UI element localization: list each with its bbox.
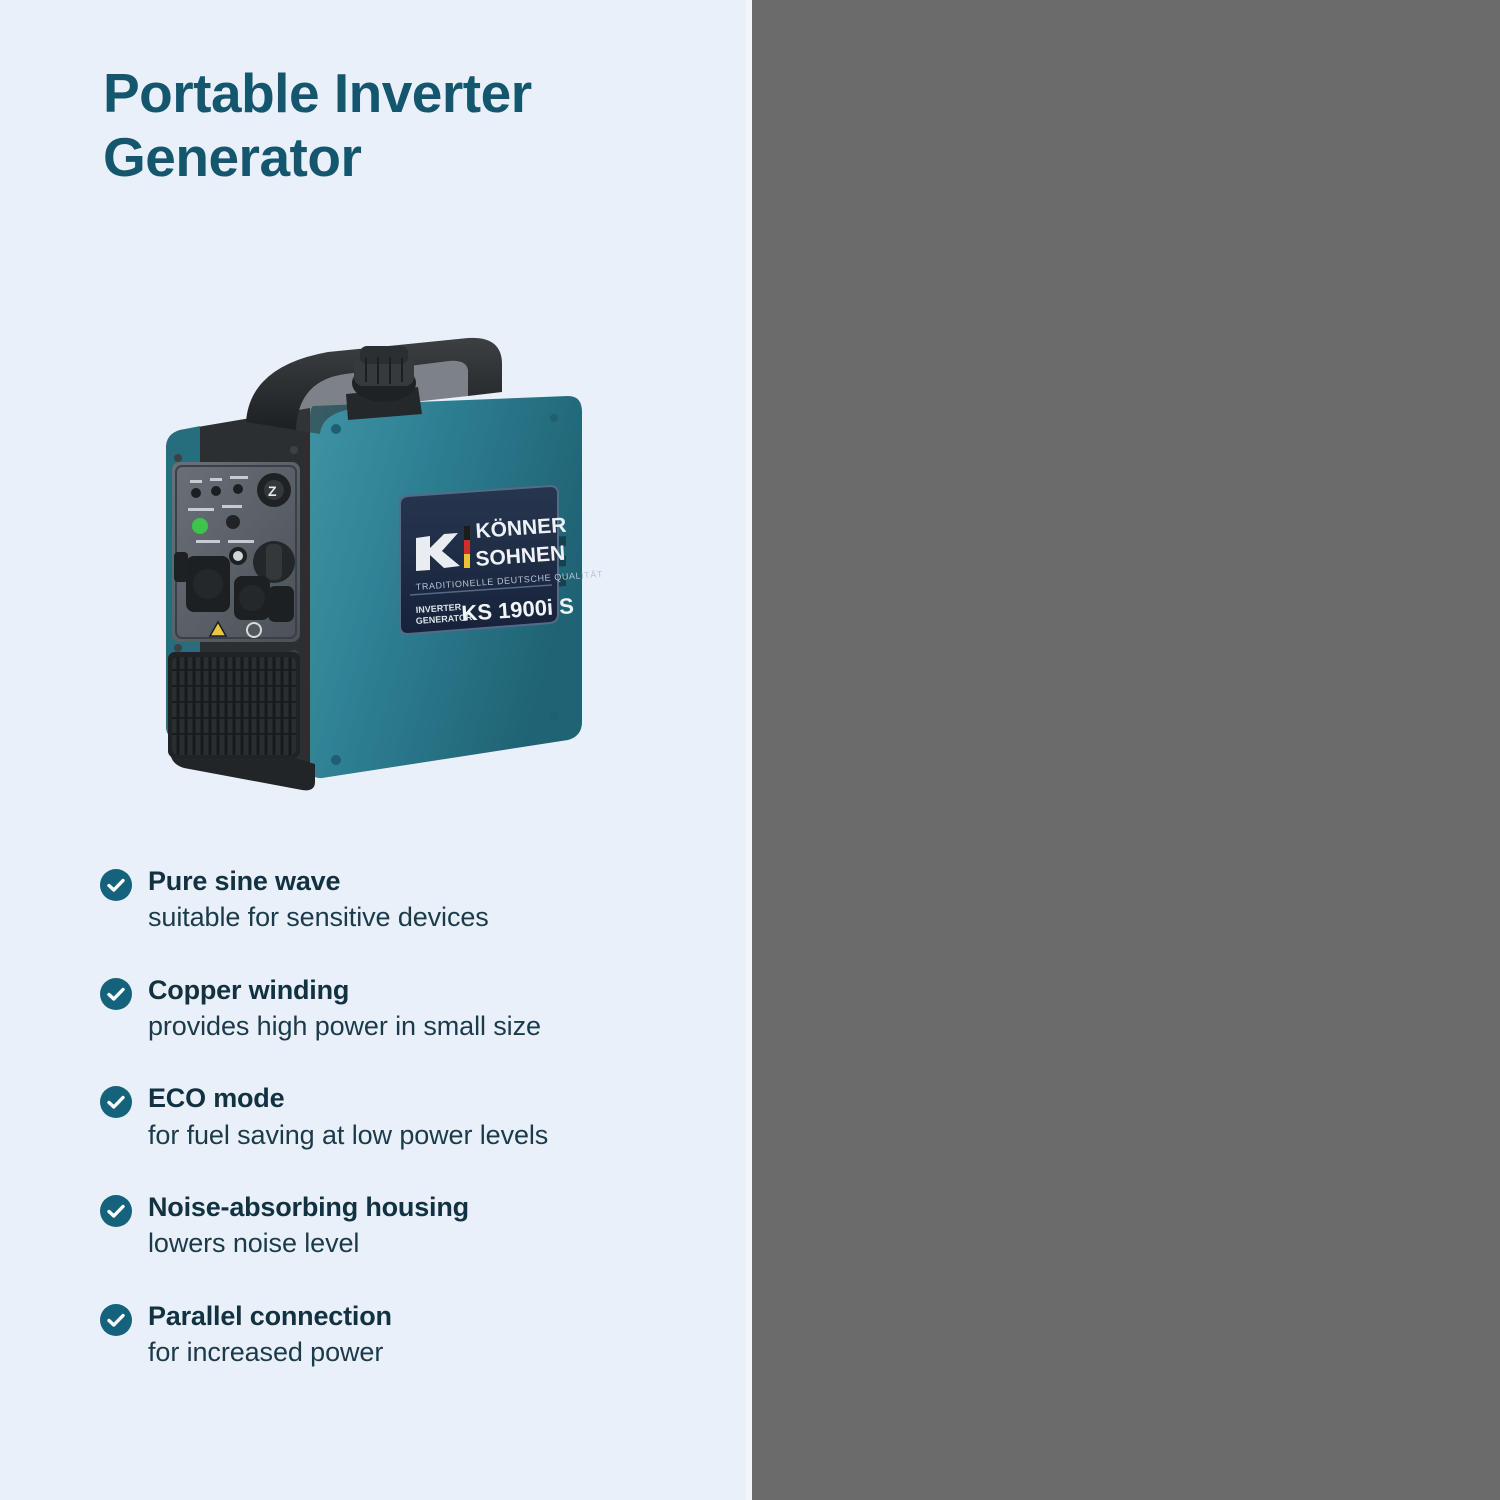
panel-label-5v xyxy=(190,480,202,483)
check-circle-icon xyxy=(100,1195,132,1227)
feature-item: Pure sine wave suitable for sensitive de… xyxy=(100,866,720,934)
panel-screw xyxy=(174,454,182,462)
check-circle-icon xyxy=(100,1304,132,1336)
indicator-lamp-low-oil xyxy=(233,484,243,494)
panel-label-dc-overload xyxy=(228,540,254,543)
body-screw xyxy=(550,712,558,720)
panel-screw xyxy=(290,446,298,454)
feature-item: ECO mode for fuel saving at low power le… xyxy=(100,1083,720,1151)
dc-overload-socket-inner xyxy=(233,551,243,561)
feature-subtitle: suitable for sensitive devices xyxy=(148,901,720,933)
flag-stripe-red xyxy=(464,540,470,554)
fuel-cap-top xyxy=(360,346,408,364)
indicator-lamp-overload xyxy=(211,486,221,496)
left-panel-title: Portable Inverter Generator xyxy=(103,62,703,190)
panel-label-low-oil xyxy=(230,476,248,479)
feature-title: ECO mode xyxy=(148,1083,720,1114)
economy-mode-led xyxy=(192,518,208,534)
flag-stripe-black xyxy=(464,526,470,540)
feature-title: Pure sine wave xyxy=(148,866,720,897)
choke-knob-lever xyxy=(266,544,282,580)
flag-stripe-gold xyxy=(464,554,470,568)
feature-subtitle: for fuel saving at low power levels xyxy=(148,1119,720,1151)
check-circle-icon xyxy=(100,1086,132,1118)
ac-socket-right-face xyxy=(239,585,265,611)
inverter-generator-product-image: Z xyxy=(150,330,610,810)
comparison-infographic: Portable Inverter Generator xyxy=(0,0,1500,1500)
feature-item: Parallel connection for increased power xyxy=(100,1301,720,1369)
ac-reset-button xyxy=(226,515,240,529)
feature-title: Copper winding xyxy=(148,975,720,1006)
panel-screw xyxy=(174,644,182,652)
ignition-switch-marking: Z xyxy=(268,483,277,499)
body-screw xyxy=(331,755,341,765)
panel-label-230v xyxy=(196,540,220,543)
indicator-lamp-output xyxy=(191,488,201,498)
left-panel-inverter-generator: Portable Inverter Generator xyxy=(0,0,746,1500)
panel-label-economy xyxy=(188,508,214,511)
socket-cover-flap xyxy=(268,586,294,622)
feature-subtitle: lowers noise level xyxy=(148,1227,720,1259)
ac-socket-left-face xyxy=(193,569,223,599)
inverter-feature-list: Pure sine wave suitable for sensitive de… xyxy=(100,866,720,1369)
feature-title: Noise-absorbing housing xyxy=(148,1192,720,1223)
cooling-grille-slats xyxy=(172,657,296,755)
check-circle-icon xyxy=(100,978,132,1010)
feature-item: Noise-absorbing housing lowers noise lev… xyxy=(100,1192,720,1260)
check-circle-icon xyxy=(100,869,132,901)
panel-label-ac xyxy=(210,478,222,481)
feature-item: Copper winding provides high power in sm… xyxy=(100,975,720,1043)
body-screw xyxy=(331,424,341,434)
parallel-connection-terminals xyxy=(174,552,188,582)
panel-label-ac-reset xyxy=(222,505,242,508)
feature-title: Parallel connection xyxy=(148,1301,720,1332)
feature-subtitle: for increased power xyxy=(148,1336,720,1368)
body-screw xyxy=(550,414,558,422)
right-panel-gasoline-generator: Traditional gasoline generator xyxy=(752,0,1500,1500)
feature-subtitle: provides high power in small size xyxy=(148,1010,720,1042)
